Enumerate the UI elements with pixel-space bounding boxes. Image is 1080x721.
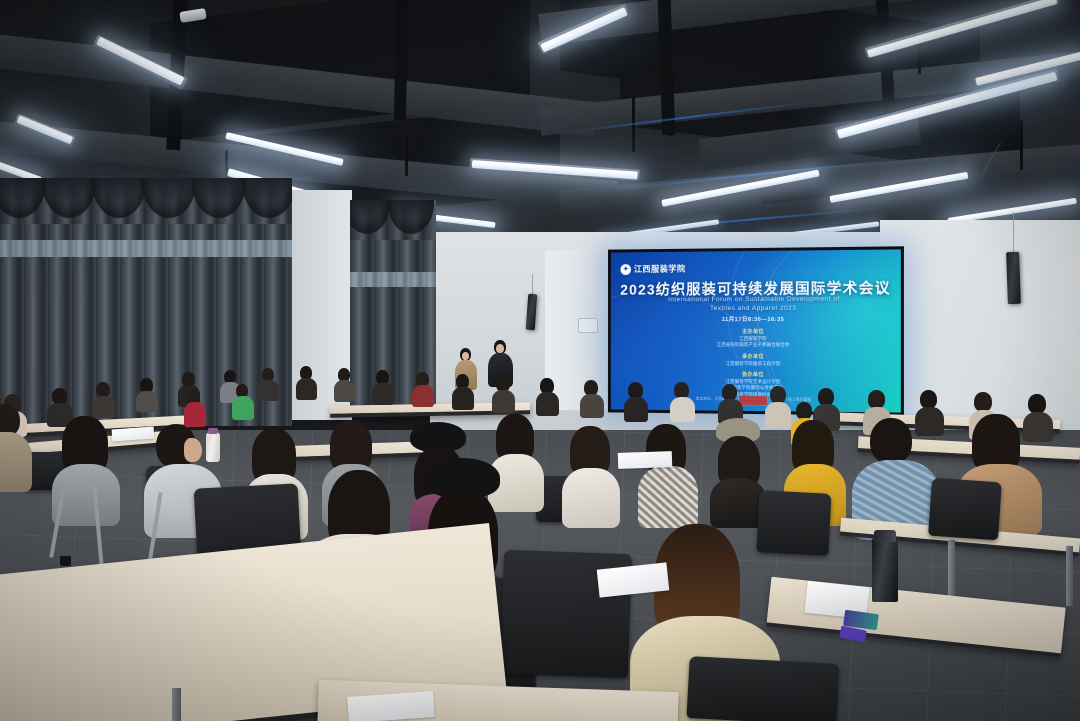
torso [0,432,32,492]
printed-handout [618,451,673,469]
audience-mid-band [0,404,1080,524]
speaker-hanging-wire [1013,212,1014,252]
torso [334,380,355,402]
torso [258,380,279,401]
conference-hall-photo: ✦ 江西服装学院 2023纺织服装可持续发展国际学术会议 Internation… [0,0,1080,721]
screen-logo-text: 江西服装学院 [634,263,686,275]
curtain-band [0,240,292,257]
ceiling-hanger-rod [918,20,921,74]
bottle-cap [208,428,218,434]
screen-block-organizers: 主办单位 江西服装学院 江西省纺织服装产业产教融合联合体 [611,329,901,349]
printed-handout [347,691,435,721]
face [496,344,504,353]
thermos-cap [874,530,896,542]
shield-emblem-icon: ✦ [620,264,631,275]
torso [296,378,317,400]
ceiling-beam [394,0,408,120]
water-bottle [206,432,220,462]
wall-control-panel[interactable] [578,318,598,333]
wall-speaker-right [1006,252,1021,304]
speaker-hanging-wire [532,274,533,296]
curtain-band [350,272,436,287]
screen-logo: ✦ 江西服装学院 [620,263,685,275]
black-thermos [872,538,898,602]
block-line: 江西省纺织服装产业产教融合联合体 [611,342,901,349]
chair-foreground[interactable] [686,656,839,721]
torso [562,468,620,528]
screen-date: 11月17日8:30—16:35 [611,315,901,323]
torso [638,466,698,528]
screen-subtitle-line2: Textiles and Apparel 2023 [611,304,901,313]
head [870,418,912,464]
face [462,352,469,360]
desk-leg [172,688,181,721]
ceiling-hanger-rod [1020,120,1023,170]
chair-right[interactable] [928,478,1002,541]
screen-subtitle-en: International Forum on Sustainable Devel… [611,295,901,313]
desk-leg [1066,546,1073,606]
face [184,438,202,462]
ceiling-hanger-rod [668,56,671,136]
chair-right[interactable] [756,490,831,556]
ceiling-hanger-rod [405,136,408,176]
chair-foot [60,556,71,566]
torso [372,383,394,405]
